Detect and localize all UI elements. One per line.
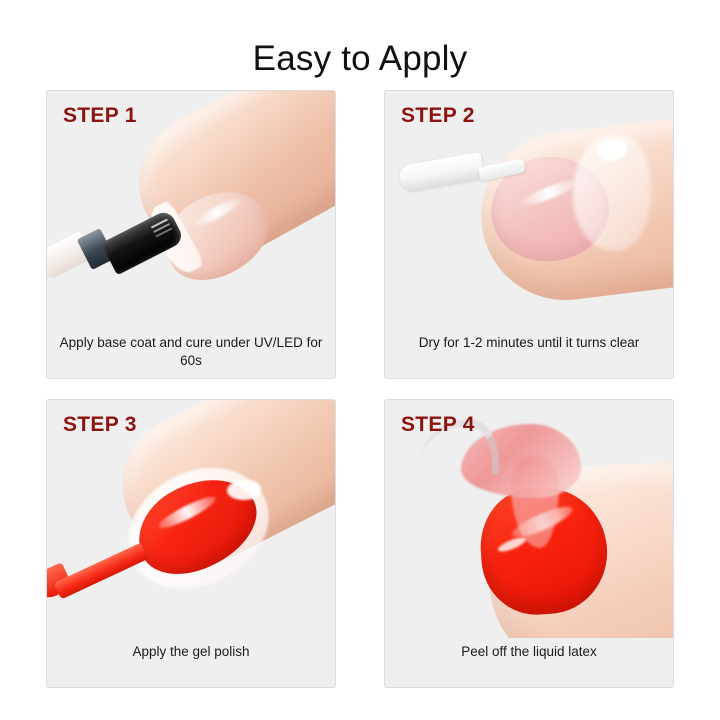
step-card-4[interactable]: STEP 4 Peel off the liquid latex (384, 399, 674, 688)
red-polish-brush (54, 543, 149, 600)
step-label-4: STEP 4 (401, 413, 475, 437)
step-caption-4: Peel off the liquid latex (395, 638, 663, 687)
easy-to-apply-infographic: Easy to Apply STEP 1 Apply base coat and… (0, 0, 720, 720)
step-card-2[interactable]: STEP 2 Dry for 1-2 minutes until it turn… (384, 90, 674, 379)
steps-grid: STEP 1 Apply base coat and cure under UV… (46, 90, 674, 688)
step-caption-1: Apply base coat and cure under UV/LED fo… (57, 329, 325, 378)
step-caption-3: Apply the gel polish (57, 638, 325, 687)
step-card-3[interactable]: STEP 3 Apply the gel polish (46, 399, 336, 688)
step-caption-2: Dry for 1-2 minutes until it turns clear (395, 329, 663, 378)
step-card-1[interactable]: STEP 1 Apply base coat and cure under UV… (46, 90, 336, 379)
latex-spill-highlight (227, 480, 261, 500)
white-applicator-body (397, 152, 484, 192)
step-label-3: STEP 3 (63, 413, 137, 437)
page-title: Easy to Apply (0, 37, 720, 81)
step-label-2: STEP 2 (401, 104, 475, 128)
step-label-1: STEP 1 (63, 104, 137, 128)
